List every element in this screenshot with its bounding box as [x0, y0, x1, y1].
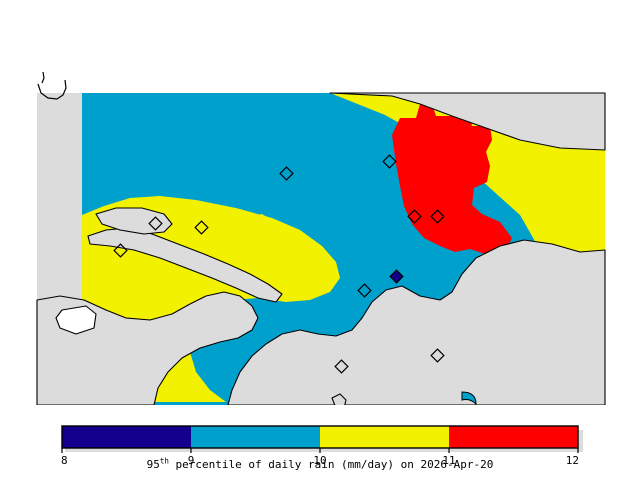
colorbar-band [320, 426, 449, 448]
colorbar-band [449, 426, 578, 448]
colorbar-caption: 95th percentile of daily rain (mm/day) o… [0, 458, 640, 471]
caption-ordinal: th [160, 456, 169, 465]
caption-suffix: percentile of daily rain (mm/day) on 202… [169, 458, 494, 471]
rain-contour-map [0, 0, 640, 420]
caption-prefix: 95 [147, 458, 160, 471]
screenshot-root: VictoriaWeather.ca -- Summer Total Daily… [0, 0, 640, 480]
colorbar-band [191, 426, 320, 448]
colorbar-bands [62, 426, 578, 448]
colorbar-band [62, 426, 191, 448]
